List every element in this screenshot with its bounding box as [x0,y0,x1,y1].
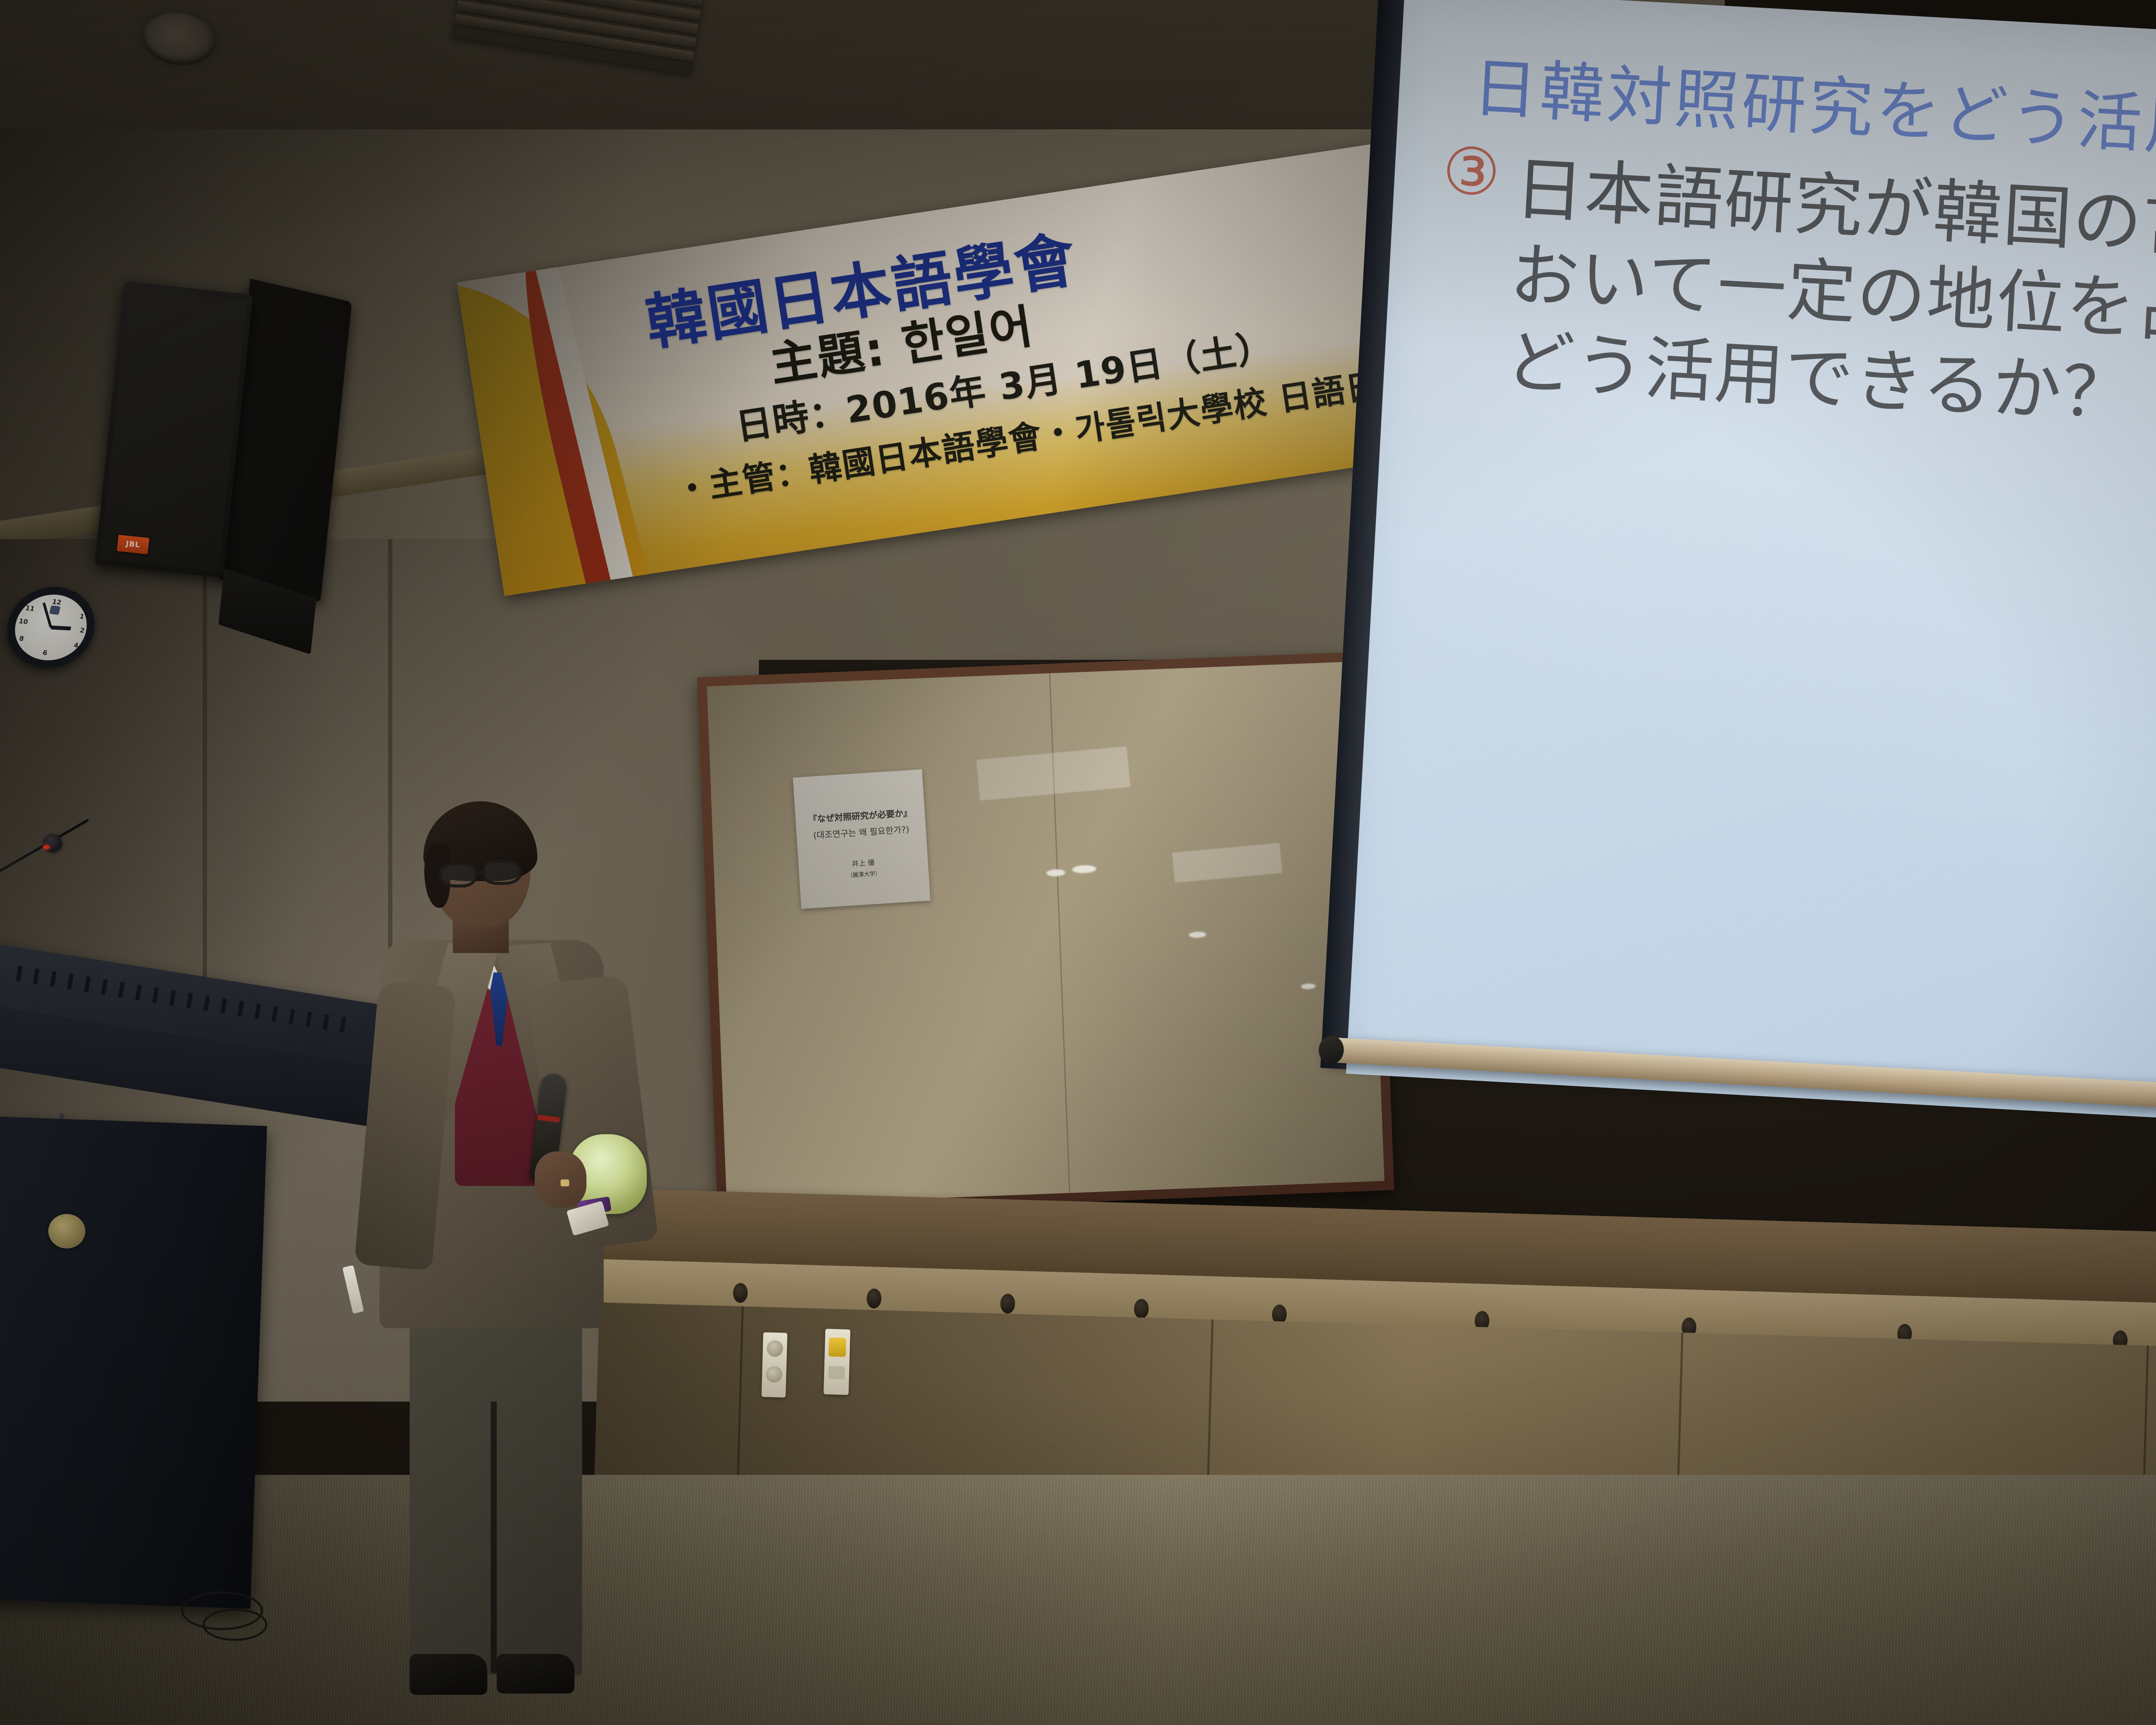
wall-power-outlet[interactable] [761,1332,787,1398]
sign-affiliation: （麗澤大学） [803,866,924,884]
eyeglasses-left-lens-icon [439,862,477,888]
whiteboard-seam [1049,673,1070,1193]
presenter-pointer [342,1265,364,1314]
mic-status-led-icon [43,845,50,849]
projected-slide: 日韓対照研究をどう活用 ③ 日本語研究が韓国の言語研究 おいて一定の地位を占める… [1346,0,2156,1140]
slide-number-marker: ③ [1440,133,1502,211]
speaker-grille [100,289,247,571]
presenter-left-shoe [410,1654,487,1695]
sign-title-kr: (대조연구는 왜 필요한가?) [800,820,922,844]
jbl-logo: JBL [117,535,150,554]
sign-title-jp: 『なぜ対照研究が必要か』 [799,804,921,828]
jbl-logo-text: JBL [117,535,150,554]
clock-face: 12 1 2 4 6 8 10 11 [8,591,94,665]
wall-light-switch[interactable] [824,1329,850,1395]
posted-session-sign: 『なぜ対照研究が必要か』 (대조연구는 왜 필요한가?) 井上 優 （麗澤大学） [793,769,931,909]
ceiling [0,0,1466,142]
whiteboard-surface: 『なぜ対照研究が必要か』 (대조연구는 왜 필요한가?) 井上 優 （麗澤大学） [707,661,1384,1206]
projection-screen: 日韓対照研究をどう活用 ③ 日本語研究が韓国の言語研究 おいて一定の地位を占める… [1319,0,2156,1157]
eyeglasses-right-lens-icon [482,860,522,885]
gooseneck-mic-head-icon [43,834,62,852]
wall-speaker: JBL [91,269,353,619]
presenter-hand [535,1151,586,1207]
podium-emblem-icon [48,1214,85,1248]
clock-hour-hand [50,626,71,630]
presenter-right-shoe [497,1654,574,1694]
eyeglasses-bridge-icon [476,871,486,874]
banner-red-swoosh [505,236,642,596]
sign-presenter-name: 井上 優 [802,853,924,874]
clock-brand-logo-icon [49,605,60,615]
presenter [302,798,681,1725]
podium-body [0,1117,267,1609]
presenter-ring-icon [561,1179,569,1186]
whiteboard-frame: 『なぜ対照研究が必要か』 (대조연구는 왜 필요한가?) 井上 優 （麗澤大学） [697,651,1395,1216]
banner-white-swoosh [529,238,642,596]
presenter-leg-gap [491,1402,497,1673]
conference-room-scene: JBL 12 1 2 4 6 8 10 11 韓國日本語學會 主題: 한일어 日… [0,0,2156,1725]
floor-cable [203,1609,267,1641]
